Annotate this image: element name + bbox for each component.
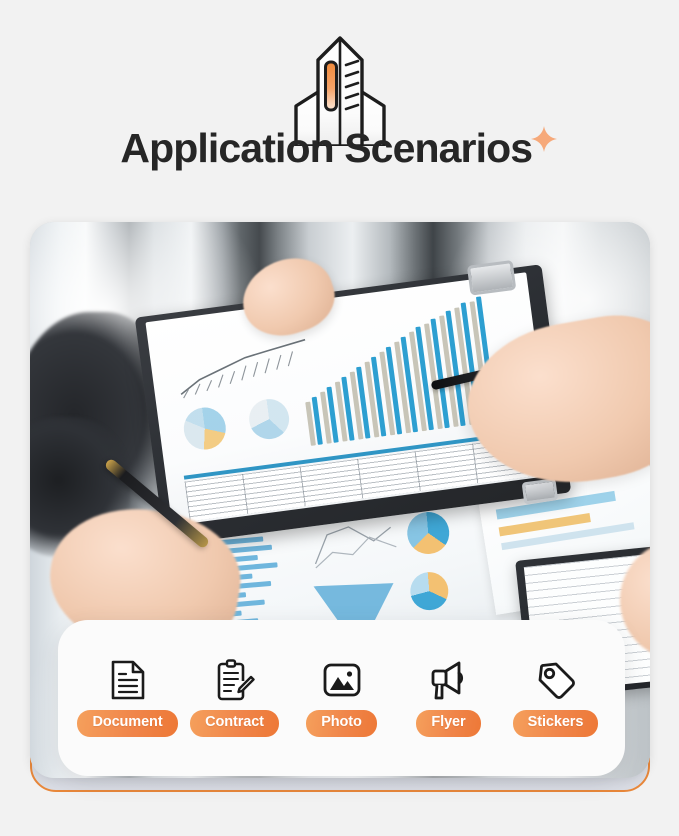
photo-report-pie-1 — [181, 405, 228, 452]
category-photo[interactable]: Photo — [288, 659, 395, 736]
title-row: Application Scenarios — [0, 128, 679, 169]
photo-sheet-pie-1 — [405, 510, 451, 556]
page-header: Application Scenarios — [0, 0, 679, 205]
photo-report-pie-2 — [247, 397, 292, 442]
document-icon — [107, 659, 149, 701]
contract-icon — [214, 659, 256, 701]
sparkle-icon — [529, 124, 559, 154]
photo-clipboard-clip — [467, 260, 517, 296]
photo-sheet-pie-2 — [409, 571, 450, 612]
application-categories-card: Document Contract — [58, 620, 625, 776]
category-document-label[interactable]: Document — [77, 710, 177, 736]
category-photo-label[interactable]: Photo — [306, 710, 377, 736]
page-title: Application Scenarios — [120, 128, 532, 169]
flyer-icon — [428, 659, 470, 701]
photo-report-trendline — [172, 335, 317, 401]
photo-clipboard-clip-lower — [522, 478, 559, 504]
photo-icon — [321, 659, 363, 701]
category-stickers-label[interactable]: Stickers — [513, 710, 599, 736]
category-contract-label[interactable]: Contract — [190, 710, 279, 736]
category-flyer[interactable]: Flyer — [395, 659, 502, 736]
category-stickers[interactable]: Stickers — [502, 659, 609, 736]
photo-sheet-linechart — [310, 517, 400, 576]
stickers-icon — [535, 659, 577, 701]
category-contract[interactable]: Contract — [181, 659, 288, 736]
category-document[interactable]: Document — [74, 659, 181, 736]
category-flyer-label[interactable]: Flyer — [416, 710, 480, 736]
